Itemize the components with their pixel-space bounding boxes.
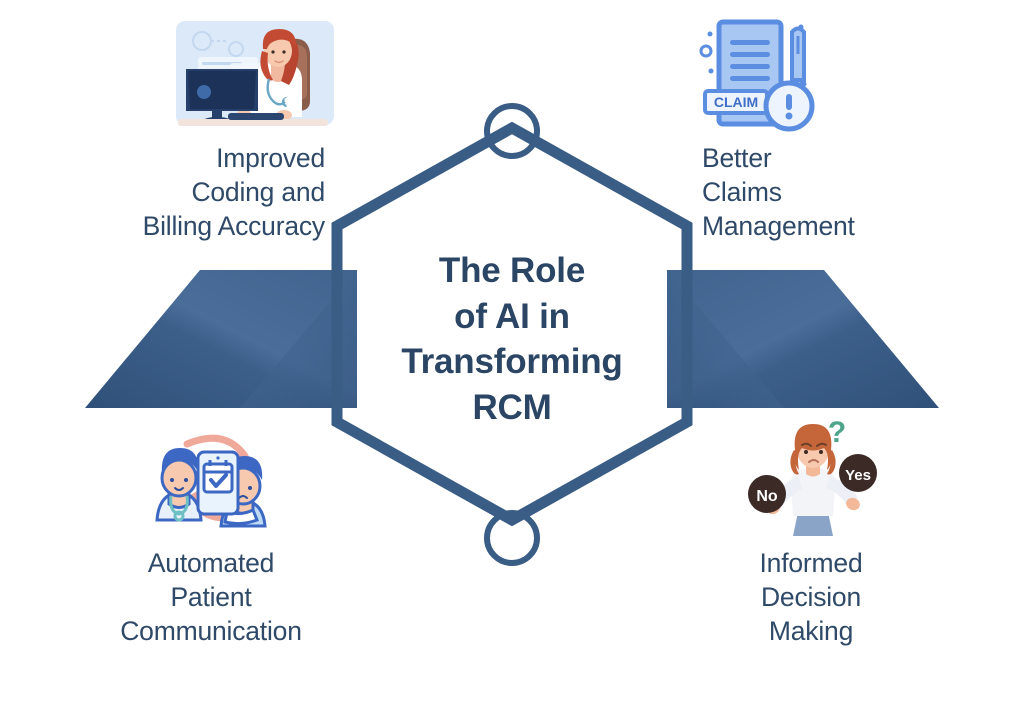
title-line-3: Transforming <box>372 339 652 385</box>
no-badge-text: No <box>756 488 778 505</box>
doctor-at-computer-icon <box>168 17 342 137</box>
claim-document-icon: CLAIM <box>697 14 827 136</box>
node-label-informed-decision: Informed Decision Making <box>700 546 922 649</box>
label-line-3: Billing Accuracy <box>0 209 325 243</box>
label-line-3: Management <box>702 209 1002 243</box>
patient-communication-icon <box>143 422 293 534</box>
title-line-1: The Role <box>372 248 652 294</box>
label-line-1: Better <box>702 141 1002 175</box>
right-ribbon <box>667 270 939 408</box>
label-line-2: Coding and <box>0 175 325 209</box>
node-label-automated-communication: Automated Patient Communication <box>35 546 387 649</box>
decision-woman-icon: ? No <box>740 416 886 536</box>
infographic-root: The Role of AI in Transforming RCM Impro… <box>0 0 1024 710</box>
title-line-4: RCM <box>372 385 652 431</box>
title-line-2: of AI in <box>372 294 652 340</box>
label-line-1: Informed <box>700 546 922 580</box>
page-title: The Role of AI in Transforming RCM <box>372 248 652 430</box>
node-label-improved-coding: Improved Coding and Billing Accuracy <box>0 141 325 244</box>
label-line-3: Communication <box>35 614 387 648</box>
label-line-2: Claims <box>702 175 1002 209</box>
label-line-1: Automated <box>35 546 387 580</box>
label-line-1: Improved <box>0 141 325 175</box>
label-line-2: Patient <box>35 580 387 614</box>
claim-tag-text: CLAIM <box>714 94 758 110</box>
label-line-3: Making <box>700 614 922 648</box>
left-ribbon <box>85 270 357 408</box>
yes-badge-text: Yes <box>845 467 871 484</box>
node-label-better-claims: Better Claims Management <box>702 141 1002 244</box>
label-line-2: Decision <box>700 580 922 614</box>
